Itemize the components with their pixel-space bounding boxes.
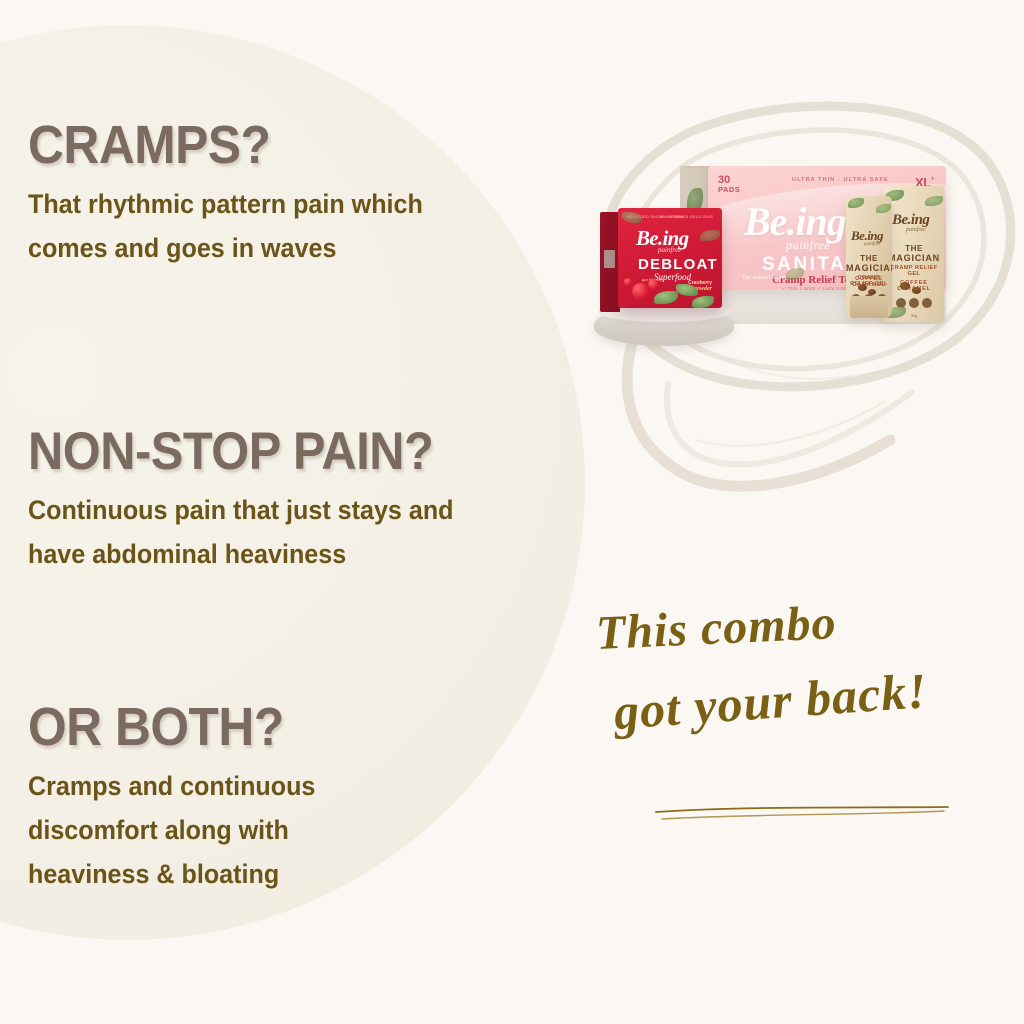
tube-title-line2: MAGICIAN (846, 263, 892, 273)
debloat-claim-right: PLANT BASED DELICIOUS (660, 215, 713, 219)
product-lineup-image: Be.ing 30 PADS ULTRA THIN · ULTRA SAFE X… (594, 160, 994, 360)
carton-descriptor: CRAMP RELIEF GEL (884, 265, 944, 277)
poster-canvas: CRAMPS? That rhythmic pattern pain which… (0, 0, 1024, 1024)
copy-column: CRAMPS? That rhythmic pattern pain which… (0, 0, 560, 1024)
symptom-block-nonstop-pain: NON-STOP PAIN? Continuous pain that just… (28, 425, 486, 577)
leaf-icon (676, 284, 698, 296)
subtext-nonstop-pain: Continuous pain that just stays and have… (28, 489, 454, 576)
leaf-icon (622, 212, 642, 223)
carton-certification-icons (884, 298, 944, 308)
subtext-nonstop-line-2: have abdominal heaviness (28, 533, 454, 577)
headline-or-both: OR BOTH? (28, 700, 312, 755)
pad-size-sup: + (931, 176, 935, 183)
tube-title-line1: THE (846, 254, 892, 263)
subtext-cramps-line-2: comes and goes in waves (28, 227, 423, 271)
pad-count: 30 PADS (718, 175, 740, 194)
subtext-or-both-line-3: heaviness & bloating (28, 853, 315, 897)
tube-brand-tagline: painfree (864, 242, 880, 247)
pad-seal-label: The natural power (742, 275, 787, 282)
subtext-cramps-line-1: That rhythmic pattern pain which (28, 183, 423, 227)
carton-title-line2: MAGICIAN (884, 253, 944, 263)
magician-gel-carton: Be.ing painfree THE MAGICIAN CRAMP RELIE… (884, 186, 944, 322)
pad-features: ✓ Thin 1.6mm ✓ Light 2.30g (782, 286, 850, 290)
subtext-or-both-line-2: discomfort along with (28, 809, 315, 853)
cranberry-icon (632, 283, 649, 300)
side-tab (604, 250, 615, 268)
combo-callout-line-2: got your back! (612, 656, 997, 741)
debloat-box: NO ADDED SUGAR · VEGAN PLANT BASED DELIC… (618, 208, 722, 308)
magician-gel-tube: Be.ing painfree THE MAGICIAN CRAMP RELIE… (846, 196, 892, 318)
cranberry-icon (624, 278, 632, 286)
headline-cramps: CRAMPS? (28, 118, 419, 173)
subtext-nonstop-line-1: Continuous pain that just stays and (28, 489, 454, 533)
cranberry-icon (648, 279, 659, 290)
pad-count-unit: PADS (718, 186, 740, 194)
debloat-box-side-panel (600, 212, 620, 312)
leaf-icon (692, 296, 714, 308)
leaf-icon (848, 198, 864, 208)
pad-brand-tagline: painfree (786, 238, 830, 253)
carton-title-line1: THE (884, 244, 944, 253)
debloat-product-title: DEBLOAT (638, 256, 718, 273)
symptom-block-cramps: CRAMPS? That rhythmic pattern pain which… (28, 118, 453, 271)
symptom-block-or-both: OR BOTH? Cramps and continuous discomfor… (28, 700, 337, 896)
subtext-cramps: That rhythmic pattern pain which comes a… (28, 183, 423, 270)
subtext-or-both-line-1: Cramps and continuous (28, 765, 315, 809)
debloat-brand-tagline: painfree (658, 246, 681, 254)
combo-callout: This combo got your back! (596, 606, 996, 741)
cert-icon (922, 298, 932, 308)
carton-flavor: COFFEE CARAMEL (884, 280, 944, 292)
combo-callout-line-1: This combo (595, 588, 997, 661)
pad-tagline-top: ULTRA THIN · ULTRA SAFE (792, 177, 889, 183)
leaf-icon (876, 204, 891, 213)
carton-brand-tagline: painfree (906, 227, 926, 233)
tube-flavor: COFFEE CARAMEL (846, 276, 892, 288)
subtext-or-both: Cramps and continuous discomfort along w… (28, 765, 315, 896)
cert-icon (909, 298, 919, 308)
combo-callout-underline (652, 806, 952, 822)
leaf-icon (925, 196, 943, 206)
headline-nonstop-pain: NON-STOP PAIN? (28, 425, 449, 479)
tube-cap (850, 296, 888, 318)
leaf-icon (654, 291, 678, 304)
leaf-icon (700, 230, 720, 241)
